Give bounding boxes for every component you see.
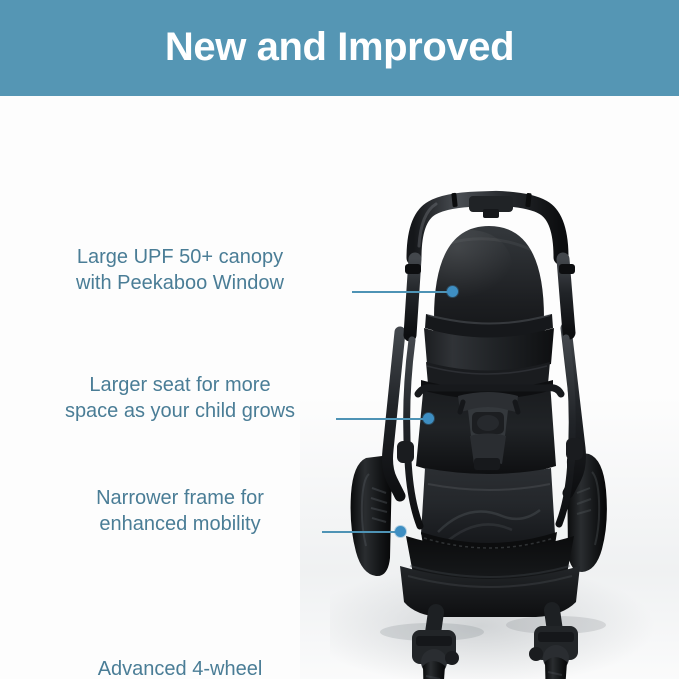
header-banner: New and Improved: [0, 0, 679, 96]
callout-label-canopy: Large UPF 50+ canopy with Peekaboo Windo…: [24, 244, 336, 297]
frame-hinge-left: [397, 441, 414, 463]
frame-hinge-right: [566, 438, 583, 460]
page-title: New and Improved: [165, 27, 514, 67]
product-stage: Large UPF 50+ canopy with Peekaboo Windo…: [0, 96, 679, 679]
callout-label-frame: Narrower frame for enhanced mobility: [24, 485, 336, 538]
frame-leg-rear-left: [388, 332, 401, 496]
product-feature-infographic: New and Improved: [0, 0, 679, 679]
seat-pad: [421, 468, 557, 556]
callout-label-seat: Larger seat for more space as your child…: [24, 372, 336, 425]
frame-rail-left: [407, 340, 420, 526]
upright-collar-left: [405, 264, 421, 274]
front-wheel-right: [529, 626, 578, 679]
callout-label-suspension: Advanced 4-wheel suspension: [24, 656, 336, 679]
canopy: [424, 226, 554, 392]
front-wheel-left: [412, 630, 459, 679]
upright-collar-right: [559, 264, 575, 274]
